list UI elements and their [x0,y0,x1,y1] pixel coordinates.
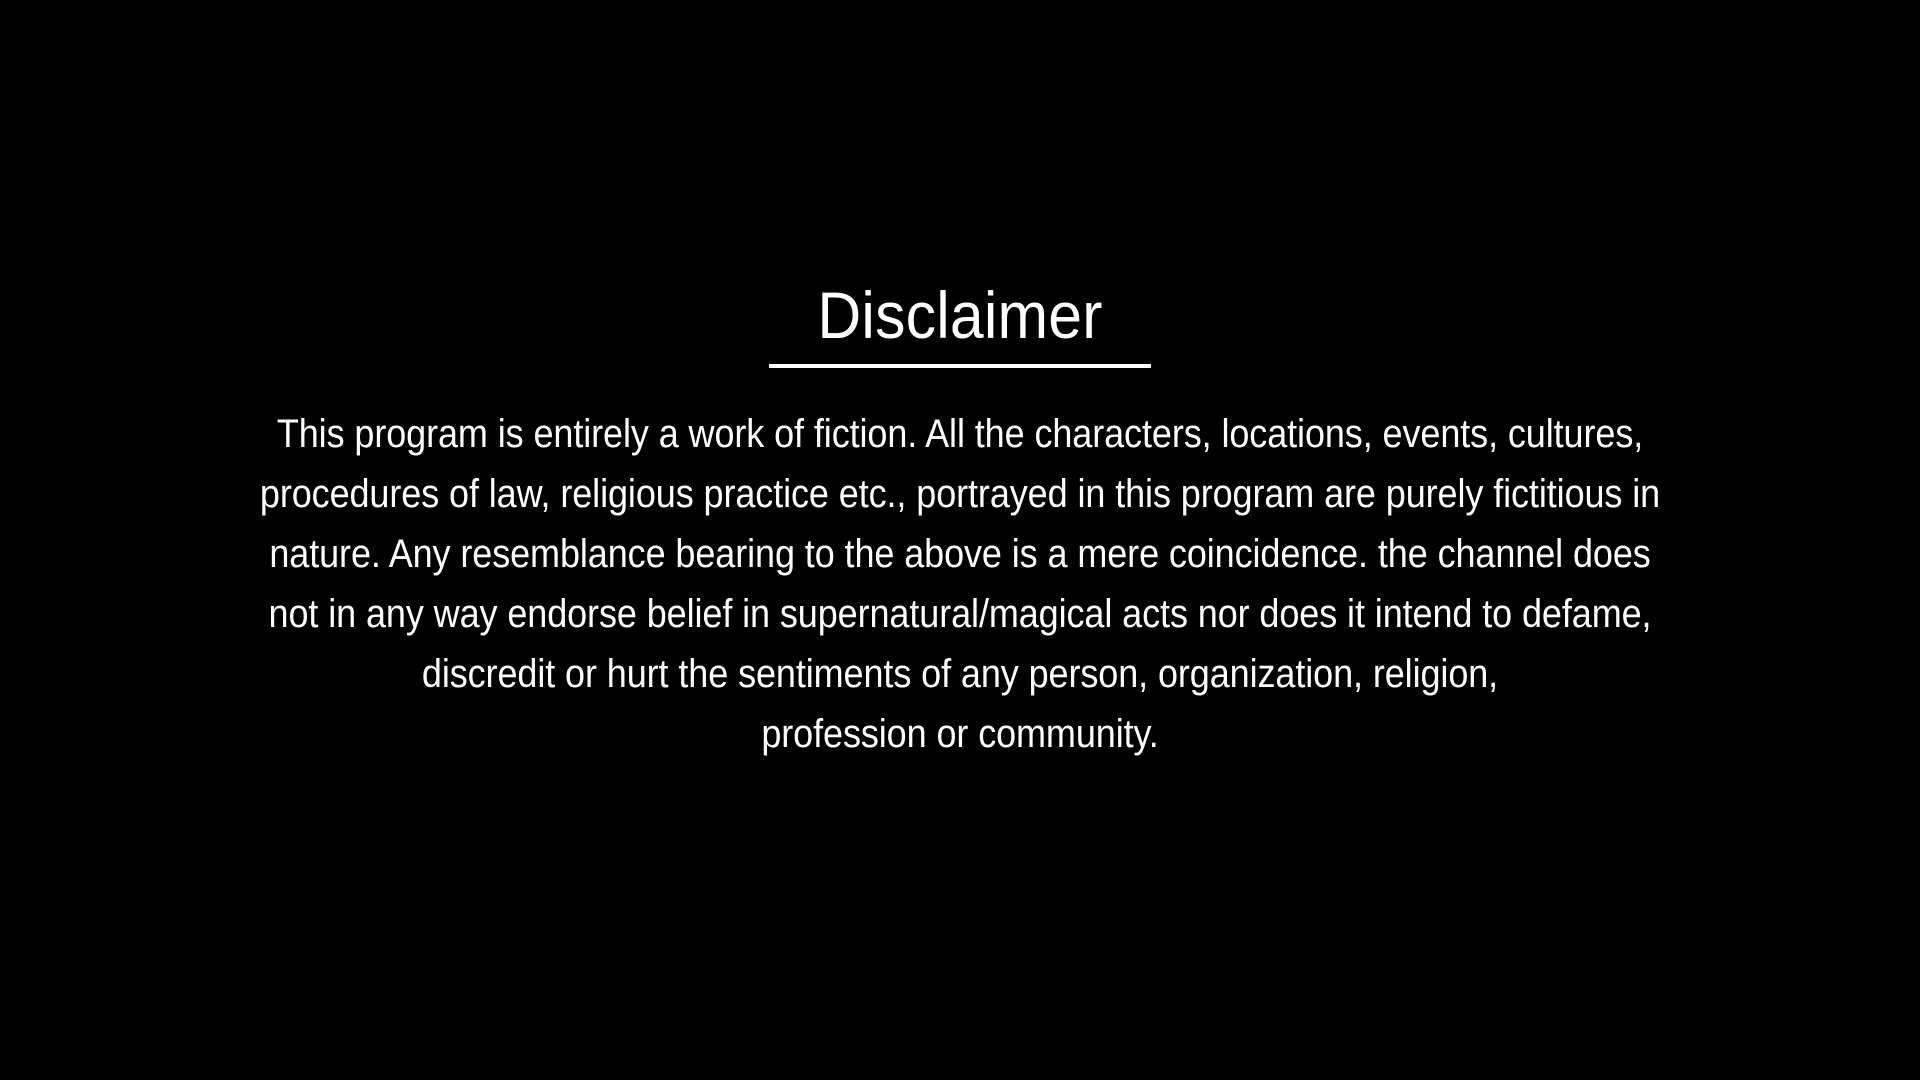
page-title: Disclaimer [817,278,1102,352]
disclaimer-line-1: This program is entirely a work of ficti… [195,404,1725,464]
disclaimer-line-4: not in any way endorse belief in superna… [195,584,1725,644]
disclaimer-text-block: This program is entirely a work of ficti… [110,404,1810,764]
disclaimer-slide: Disclaimer This program is entirely a wo… [0,0,1920,1080]
title-block: Disclaimer [0,278,1920,352]
disclaimer-line-2: procedures of law, religious practice et… [195,464,1725,524]
title-underline-rule [769,364,1151,368]
disclaimer-line-6: profession or community. [195,704,1725,764]
disclaimer-line-5: discredit or hurt the sentiments of any … [195,644,1725,704]
disclaimer-line-3: nature. Any resemblance bearing to the a… [195,524,1725,584]
